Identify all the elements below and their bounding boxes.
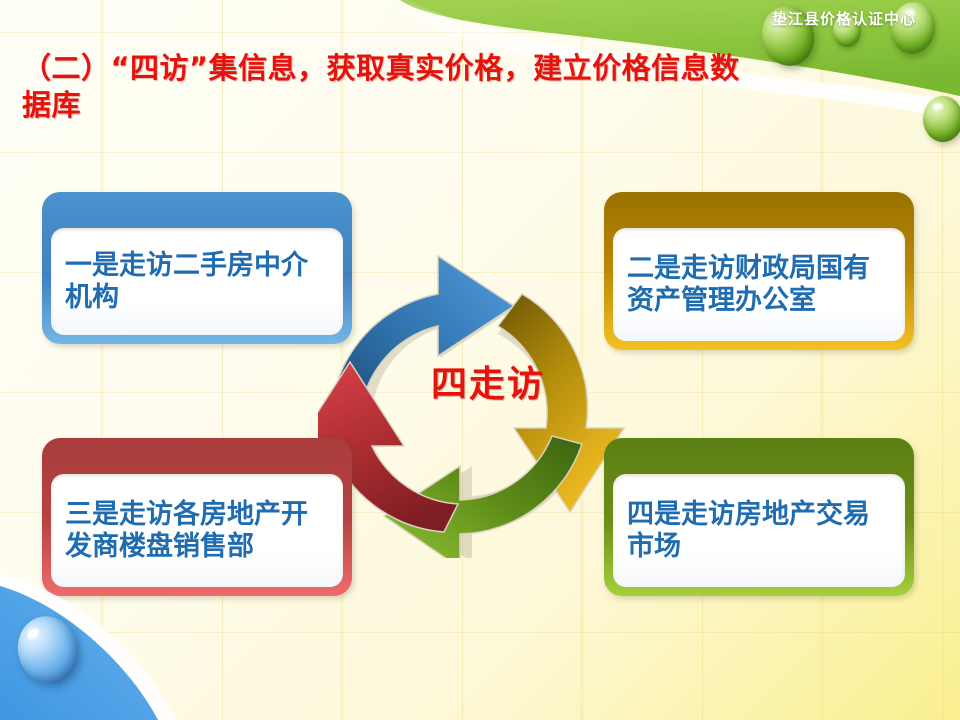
callout-box-step-4[interactable]: 四是走访房地产交易市场 xyxy=(604,438,914,596)
callout-inner: 四是走访房地产交易市场 xyxy=(613,474,905,587)
callout-text-step-2: 二是走访财政局国有资产管理办公室 xyxy=(627,253,891,317)
slide-heading: （二）“四访”集信息，获取真实价格，建立价格信息数据库 xyxy=(22,50,752,124)
callout-text-step-4: 四是走访房地产交易市场 xyxy=(627,499,891,563)
callout-inner: 二是走访财政局国有资产管理办公室 xyxy=(613,228,905,341)
bottom-left-corner-decoration xyxy=(0,530,330,720)
callout-box-step-1[interactable]: 一是走访二手房中介机构 xyxy=(42,192,352,344)
organization-title: 垫江县价格认证中心 xyxy=(772,8,916,29)
slide-canvas: 垫江县价格认证中心 （二）“四访”集信息，获取真实价格，建立价格信息数据库 xyxy=(0,0,960,720)
water-droplet-icon xyxy=(923,96,960,142)
callout-inner: 一是走访二手房中介机构 xyxy=(51,228,343,335)
callout-box-step-2[interactable]: 二是走访财政局国有资产管理办公室 xyxy=(604,192,914,350)
callout-text-step-1: 一是走访二手房中介机构 xyxy=(65,250,329,314)
